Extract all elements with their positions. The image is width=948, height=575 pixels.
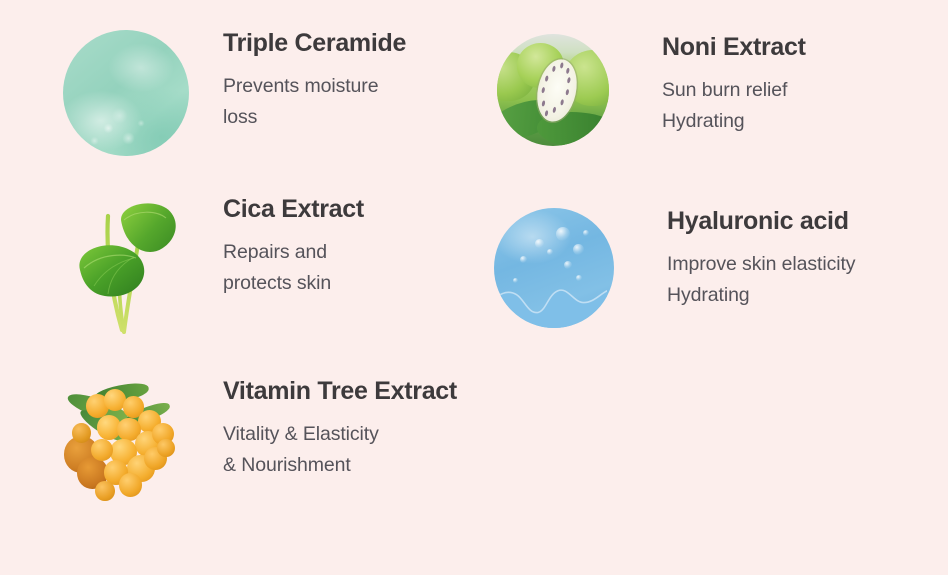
ingredient-item-noni-extract: Noni Extract Sun burn relief Hydrating xyxy=(497,34,806,146)
ingredient-title: Triple Ceramide xyxy=(223,30,406,58)
cica-leaf-image xyxy=(60,196,190,342)
description-line: Sun burn relief xyxy=(662,75,806,107)
description-line: Hydrating xyxy=(662,106,806,138)
ingredient-copy: Hyaluronic acid Improve skin elasticity … xyxy=(667,208,855,312)
ingredient-copy: Noni Extract Sun burn relief Hydrating xyxy=(662,34,806,138)
sea-buckthorn-berry-image xyxy=(58,378,196,510)
blue-gel-circle-image xyxy=(494,208,614,328)
ingredient-item-triple-ceramide: Triple Ceramide Prevents moisture loss xyxy=(63,30,406,156)
noni-fruit-circle-image xyxy=(497,34,609,146)
cica-leaf-icon xyxy=(60,196,190,342)
ingredient-item-cica-extract: Cica Extract Repairs and protects skin xyxy=(60,196,364,342)
ingredient-description: Prevents moisture loss xyxy=(223,71,406,134)
description-line: Prevents moisture xyxy=(223,71,406,103)
ingredient-title: Hyaluronic acid xyxy=(667,208,855,236)
description-line: Hydrating xyxy=(667,280,855,312)
ingredient-copy: Cica Extract Repairs and protects skin xyxy=(223,196,364,300)
description-line: & Nourishment xyxy=(223,450,457,482)
description-line: Improve skin elasticity xyxy=(667,249,855,281)
ingredient-item-vitamin-tree-extract: Vitamin Tree Extract Vitality & Elastici… xyxy=(58,378,457,510)
ingredient-title: Vitamin Tree Extract xyxy=(223,378,457,406)
description-line: Vitality & Elasticity xyxy=(223,419,457,451)
mint-gel-circle-image xyxy=(63,30,189,156)
ingredient-item-hyaluronic-acid: Hyaluronic acid Improve skin elasticity … xyxy=(494,208,855,328)
ingredient-title: Cica Extract xyxy=(223,196,364,224)
description-line: Repairs and xyxy=(223,237,364,269)
description-line: loss xyxy=(223,102,406,134)
ingredient-description: Sun burn relief Hydrating xyxy=(662,75,806,138)
ingredient-grid: Triple Ceramide Prevents moisture loss xyxy=(0,0,948,575)
ingredient-copy: Triple Ceramide Prevents moisture loss xyxy=(223,30,406,134)
ingredient-description: Vitality & Elasticity & Nourishment xyxy=(223,419,457,482)
ingredient-description: Improve skin elasticity Hydrating xyxy=(667,249,855,312)
ingredient-description: Repairs and protects skin xyxy=(223,237,364,300)
ingredient-copy: Vitamin Tree Extract Vitality & Elastici… xyxy=(223,378,457,482)
ingredient-title: Noni Extract xyxy=(662,34,806,62)
description-line: protects skin xyxy=(223,268,364,300)
gel-wave-shape xyxy=(494,273,607,328)
